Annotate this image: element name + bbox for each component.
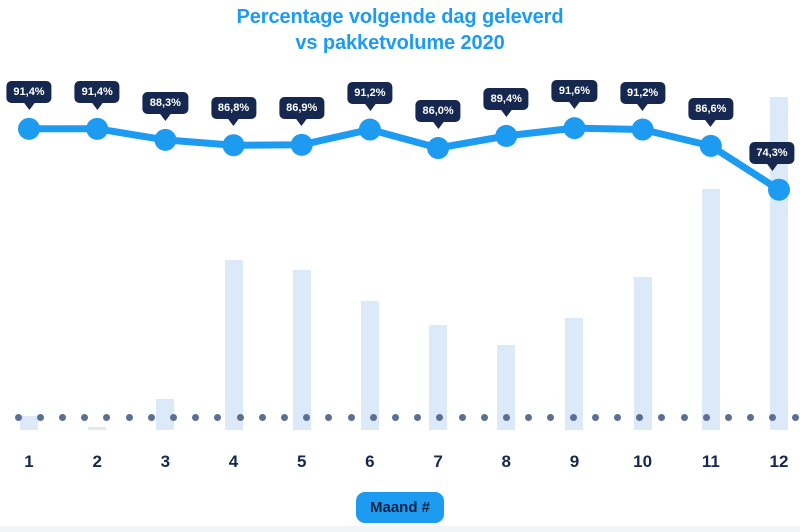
x-tick-12: 12 <box>770 452 789 472</box>
data-label-month-8: 89,4% <box>484 88 529 110</box>
x-tick-1: 1 <box>24 452 33 472</box>
x-tick-11: 11 <box>702 452 720 472</box>
line-marker-month-9 <box>563 117 585 139</box>
data-label-month-7: 86,0% <box>415 100 460 122</box>
x-tick-5: 5 <box>297 452 306 472</box>
x-tick-10: 10 <box>633 452 652 472</box>
line-path <box>29 128 779 190</box>
data-label-month-3: 88,3% <box>143 92 188 114</box>
data-label-month-5: 86,9% <box>279 97 324 119</box>
x-tick-4: 4 <box>229 452 238 472</box>
x-tick-9: 9 <box>570 452 579 472</box>
x-axis-title-badge: Maand # <box>356 492 444 523</box>
chart-title-line-1: Percentage volgende dag geleverd <box>237 6 564 28</box>
plot-area: 91,4%91,4%88,3%86,8%86,9%91,2%86,0%89,4%… <box>0 60 800 430</box>
line-marker-month-4 <box>223 134 245 156</box>
line-marker-month-3 <box>154 129 176 151</box>
data-label-month-12: 74,3% <box>749 142 794 164</box>
line-marker-month-5 <box>291 134 313 156</box>
x-tick-8: 8 <box>502 452 511 472</box>
data-label-month-11: 86,6% <box>688 98 733 120</box>
line-marker-month-12 <box>768 179 790 201</box>
x-axis-title-wrap: Maand # <box>0 492 800 523</box>
chart-title: Percentage volgende dag geleverd vs pakk… <box>0 4 800 56</box>
x-tick-6: 6 <box>365 452 374 472</box>
bottom-strip <box>0 526 800 532</box>
line-marker-month-11 <box>700 135 722 157</box>
chart-container: Percentage volgende dag geleverd vs pakk… <box>0 0 800 532</box>
line-markers <box>18 117 790 201</box>
x-tick-2: 2 <box>92 452 101 472</box>
x-tick-3: 3 <box>161 452 170 472</box>
data-label-month-2: 91,4% <box>75 81 120 103</box>
data-label-month-6: 91,2% <box>347 82 392 104</box>
x-axis-ticks: 123456789101112 <box>0 452 800 480</box>
line-marker-month-8 <box>495 125 517 147</box>
data-label-month-1: 91,4% <box>6 81 51 103</box>
line-marker-month-1 <box>18 118 40 140</box>
data-label-month-9: 91,6% <box>552 80 597 102</box>
line-series-layer <box>0 60 800 430</box>
x-tick-7: 7 <box>433 452 442 472</box>
data-label-month-10: 91,2% <box>620 82 665 104</box>
line-marker-month-7 <box>427 137 449 159</box>
chart-title-line-2: vs pakketvolume 2020 <box>0 30 800 56</box>
data-label-month-4: 86,8% <box>211 97 256 119</box>
line-marker-month-10 <box>632 119 654 141</box>
line-marker-month-6 <box>359 119 381 141</box>
line-marker-month-2 <box>86 118 108 140</box>
